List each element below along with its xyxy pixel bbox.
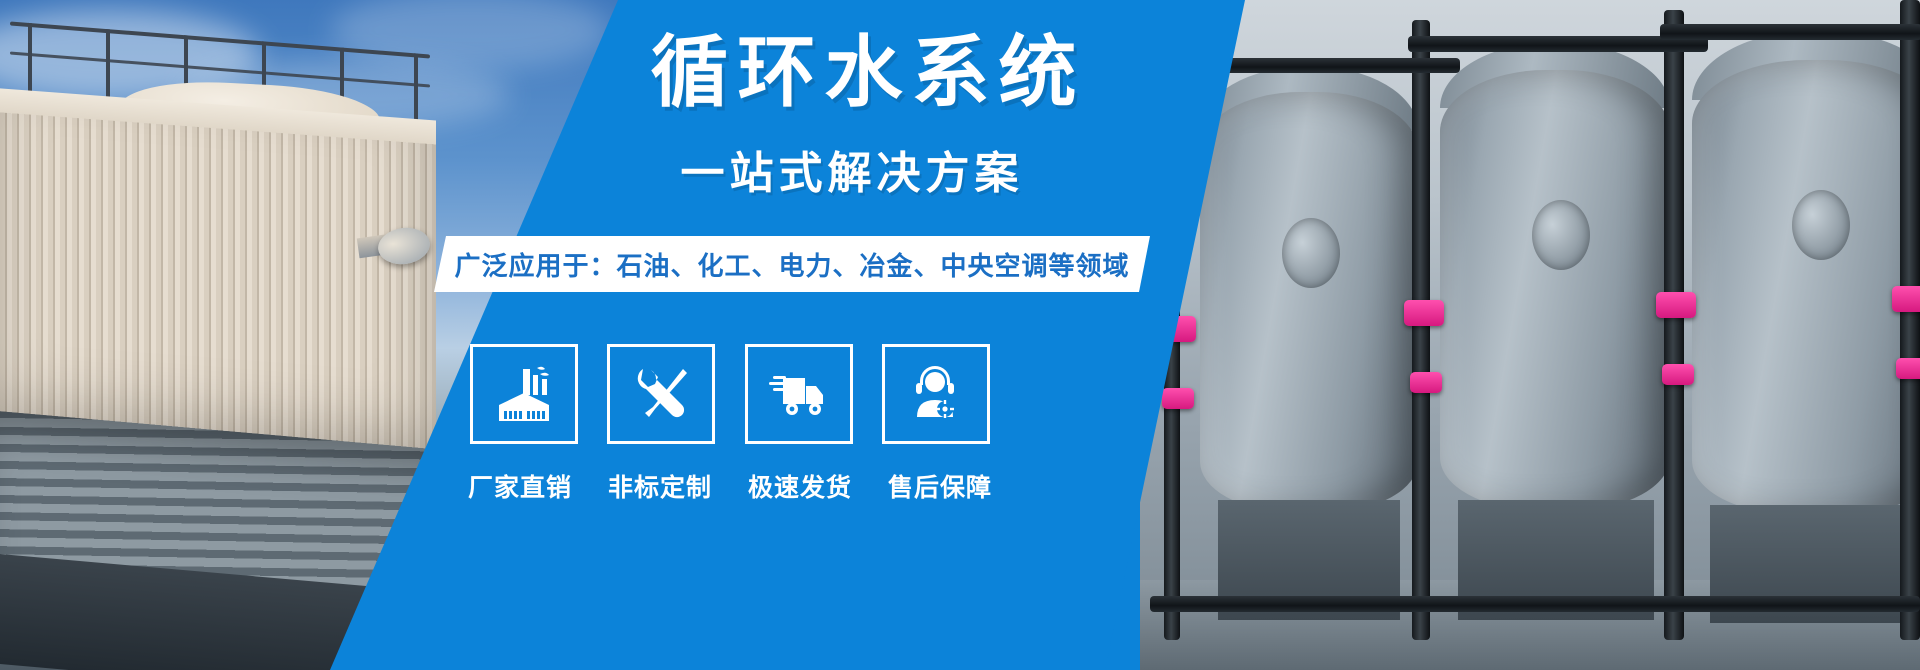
pressure-vessel: [1200, 92, 1418, 512]
pressure-vessel: [1440, 70, 1670, 510]
banner-title: 循环水系统: [598, 34, 1138, 112]
feature-label: 厂家直销: [460, 468, 580, 504]
feature-label-row: 厂家直销 非标定制 极速发货 售后保障: [460, 468, 1000, 504]
valve-handle: [1662, 364, 1694, 385]
vessel-manway: [1532, 200, 1590, 270]
vessel-manway: [1282, 218, 1340, 288]
headset-support-icon: [907, 365, 965, 423]
pipe: [1900, 0, 1920, 640]
valve-handle: [1892, 286, 1920, 312]
feature-box-factory[interactable]: [470, 344, 578, 444]
valve-handle: [1162, 388, 1194, 409]
pipe: [1664, 10, 1684, 640]
pipe: [1150, 596, 1920, 612]
factory-icon: [493, 365, 555, 423]
feature-label: 售后保障: [880, 468, 1000, 504]
valve-handle: [1656, 292, 1696, 318]
pipe: [1660, 24, 1920, 40]
feature-box-shipping[interactable]: [745, 344, 853, 444]
pipe: [1412, 20, 1430, 640]
valve-handle: [1896, 358, 1920, 379]
valve-handle: [1410, 372, 1442, 393]
pressure-vessel-photo: [1140, 0, 1920, 670]
truck-icon: [767, 370, 831, 418]
application-band-text: 广泛应用于：石油、化工、电力、冶金、中央空调等领域: [454, 246, 1129, 283]
vessel-manway: [1792, 190, 1850, 260]
feature-label: 非标定制: [600, 468, 720, 504]
feature-icon-row: [470, 344, 990, 444]
pressure-vessel: [1692, 60, 1920, 515]
feature-box-custom[interactable]: [607, 344, 715, 444]
application-band: 广泛应用于：石油、化工、电力、冶金、中央空调等领域: [434, 236, 1150, 292]
promo-banner: 循环水系统 一站式解决方案 广泛应用于：石油、化工、电力、冶金、中央空调等领域: [0, 0, 1920, 670]
tools-icon: [631, 365, 691, 423]
feature-box-aftersales[interactable]: [882, 344, 990, 444]
banner-subtitle: 一站式解决方案: [582, 152, 1122, 196]
valve-handle: [1404, 300, 1444, 326]
feature-label: 极速发货: [740, 468, 860, 504]
